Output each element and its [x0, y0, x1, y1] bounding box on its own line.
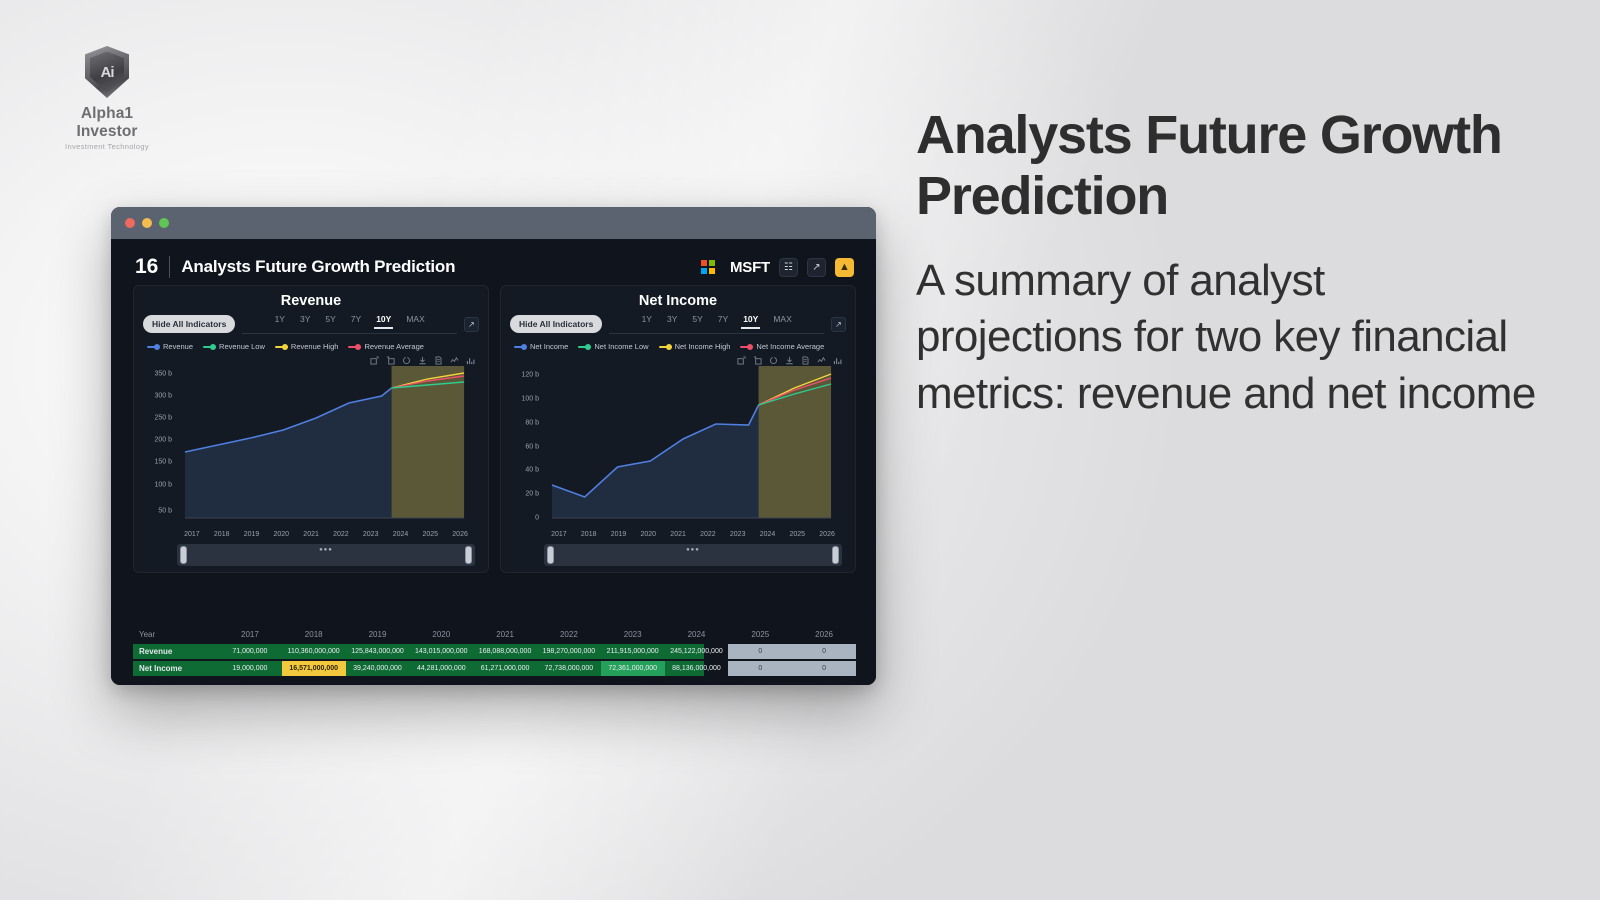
x-tick: 2024	[753, 531, 783, 538]
range-1y[interactable]: 1Y	[273, 314, 287, 329]
warning-icon[interactable]: ▲	[835, 258, 854, 277]
table-cell: 19,000,000	[218, 661, 282, 676]
x-tick: 2025	[415, 531, 445, 538]
panel-net-income: Net Income Hide All Indicators 1Y 3Y 5Y …	[500, 285, 856, 573]
table-cell: 0	[792, 644, 856, 659]
legend-label: Revenue High	[291, 342, 339, 351]
table-column-header: 2021	[473, 627, 537, 642]
copy-heading: Analysts Future Growth Prediction	[916, 105, 1536, 227]
x-tick: 2019	[237, 531, 267, 538]
zoom-in-icon[interactable]	[737, 356, 746, 365]
zoom-out-icon[interactable]	[386, 356, 395, 365]
range-7y[interactable]: 7Y	[349, 314, 363, 329]
x-axis-revenue: 2017 2018 2019 2020 2021 2022 2023 2024 …	[177, 531, 475, 538]
range-10y[interactable]: 10Y	[741, 314, 760, 329]
range-selector-revenue: 1Y 3Y 5Y 7Y 10Y MAX	[242, 314, 457, 334]
table-cell: 39,240,000,000	[346, 661, 410, 676]
table-cell: 245,122,000,000	[665, 644, 729, 659]
y-tick: 200 b	[154, 437, 177, 444]
table-cell: 16,571,000,000	[282, 661, 346, 676]
x-tick: 2017	[544, 531, 574, 538]
legend-item-net-income-high[interactable]: Net Income High	[659, 342, 731, 351]
y-axis-revenue: 350 b 300 b 250 b 200 b 150 b 100 b 50 b	[177, 366, 475, 524]
download-icon[interactable]	[785, 356, 794, 365]
app-header: 16 Analysts Future Growth Prediction MSF…	[111, 239, 876, 279]
y-tick: 80 b	[525, 419, 544, 426]
legend-item-revenue-high[interactable]: Revenue High	[275, 342, 339, 351]
app-body: 16 Analysts Future Growth Prediction MSF…	[111, 239, 876, 685]
table-row: Net Income 19,000,000 16,571,000,000 39,…	[133, 661, 856, 676]
table-row-label: Revenue	[133, 644, 218, 659]
table-cell: 211,915,000,000	[601, 644, 665, 659]
legend-item-revenue[interactable]: Revenue	[147, 342, 193, 351]
table-cell: 143,015,000,000	[409, 644, 473, 659]
range-max[interactable]: MAX	[404, 314, 426, 329]
zoom-in-icon[interactable]	[370, 356, 379, 365]
slide-number: 16	[135, 255, 158, 279]
legend-label: Revenue Average	[364, 342, 424, 351]
range-slider-revenue[interactable]: ●●●	[177, 544, 475, 566]
x-tick: 2025	[782, 531, 812, 538]
close-icon[interactable]	[125, 218, 135, 228]
table-column-header: 2022	[537, 627, 601, 642]
bar-chart-icon[interactable]	[833, 356, 842, 365]
brand-name: Alpha1 Investor	[52, 105, 162, 141]
line-chart-icon[interactable]	[817, 356, 826, 365]
table-cell: 72,361,000,000	[601, 661, 665, 676]
revenue-plot-svg	[177, 366, 475, 524]
download-icon[interactable]	[418, 356, 427, 365]
financials-table: Year 2017 2018 2019 2020 2021 2022 2023 …	[133, 627, 856, 678]
brand-tagline: Investment Technology	[52, 142, 162, 151]
zoom-icon[interactable]	[159, 218, 169, 228]
range-3y[interactable]: 3Y	[665, 314, 679, 329]
legend-net-income: Net Income Net Income Low Net Income Hig…	[510, 342, 846, 351]
slider-handle-right[interactable]	[832, 546, 839, 564]
ticker-symbol: MSFT	[730, 259, 770, 276]
table-cell: 0	[792, 661, 856, 676]
table-column-header: 2019	[346, 627, 410, 642]
chart-net-income[interactable]: 120 b 100 b 80 b 60 b 40 b 20 b 0	[510, 366, 846, 538]
range-1y[interactable]: 1Y	[640, 314, 654, 329]
external-link-icon[interactable]: ↗	[807, 258, 826, 277]
table-column-header: 2018	[282, 627, 346, 642]
legend-revenue: Revenue Revenue Low Revenue High Revenue…	[143, 342, 479, 351]
copy-body: A summary of analyst projections for two…	[916, 253, 1536, 422]
panel-title-revenue: Revenue	[143, 293, 479, 309]
legend-item-net-income-average[interactable]: Net Income Average	[740, 342, 824, 351]
range-3y[interactable]: 3Y	[298, 314, 312, 329]
x-tick: 2026	[812, 531, 842, 538]
legend-label: Net Income	[530, 342, 568, 351]
y-tick: 100 b	[521, 396, 544, 403]
legend-label: Net Income Average	[756, 342, 824, 351]
range-slider-net-income[interactable]: ●●●	[544, 544, 842, 566]
y-tick: 40 b	[525, 467, 544, 474]
legend-item-net-income-low[interactable]: Net Income Low	[578, 342, 648, 351]
table-cell: 88,136,000,000	[665, 661, 729, 676]
table-header-row: Year 2017 2018 2019 2020 2021 2022 2023 …	[133, 627, 856, 642]
bar-chart-icon[interactable]	[466, 356, 475, 365]
chart-revenue[interactable]: 350 b 300 b 250 b 200 b 150 b 100 b 50 b	[143, 366, 479, 538]
legend-label: Net Income Low	[594, 342, 648, 351]
chart-panels: Revenue Hide All Indicators 1Y 3Y 5Y 7Y …	[111, 279, 876, 573]
table-row-header: Year	[133, 627, 218, 642]
app-window: 16 Analysts Future Growth Prediction MSF…	[111, 207, 876, 685]
table-column-header: 2025	[728, 627, 792, 642]
table-column-header: 2024	[665, 627, 729, 642]
range-7y[interactable]: 7Y	[716, 314, 730, 329]
table-cell: 0	[728, 644, 792, 659]
y-tick: 100 b	[154, 481, 177, 488]
table-row: Revenue 71,000,000 110,360,000,000 125,8…	[133, 644, 856, 659]
table-cell: 71,000,000	[218, 644, 282, 659]
y-tick: 0	[535, 514, 544, 521]
table-row-label: Net Income	[133, 661, 218, 676]
legend-item-net-income[interactable]: Net Income	[514, 342, 568, 351]
x-tick: 2017	[177, 531, 207, 538]
chart-toolbar-revenue	[143, 353, 479, 366]
expand-icon-net-income[interactable]: ↗	[831, 317, 846, 332]
hide-all-indicators-button-net-income[interactable]: Hide All Indicators	[510, 315, 602, 333]
y-tick: 120 b	[521, 372, 544, 379]
x-tick: 2018	[574, 531, 604, 538]
copy-block: Analysts Future Growth Prediction A summ…	[916, 105, 1536, 422]
window-titlebar	[111, 207, 876, 239]
microsoft-logo-icon	[701, 260, 715, 274]
x-tick: 2026	[445, 531, 475, 538]
range-5y[interactable]: 5Y	[690, 314, 704, 329]
table-cell: 0	[728, 661, 792, 676]
brand-monogram: Ai	[101, 65, 114, 80]
legend-item-revenue-average[interactable]: Revenue Average	[348, 342, 424, 351]
legend-label: Net Income High	[675, 342, 731, 351]
expand-icon-revenue[interactable]: ↗	[464, 317, 479, 332]
reset-icon[interactable]	[769, 356, 778, 365]
x-tick: 2018	[207, 531, 237, 538]
chart-toolbar-net-income	[510, 353, 846, 366]
x-tick: 2020	[266, 531, 296, 538]
y-tick: 350 b	[154, 370, 177, 377]
hide-all-indicators-button-revenue[interactable]: Hide All Indicators	[143, 315, 235, 333]
x-tick: 2023	[723, 531, 753, 538]
x-tick: 2023	[356, 531, 386, 538]
panel-revenue: Revenue Hide All Indicators 1Y 3Y 5Y 7Y …	[133, 285, 489, 573]
x-tick: 2021	[663, 531, 693, 538]
y-tick: 20 b	[525, 490, 544, 497]
legend-label: Revenue	[163, 342, 193, 351]
range-max[interactable]: MAX	[771, 314, 793, 329]
document-icon[interactable]	[801, 356, 810, 365]
range-selector-net-income: 1Y 3Y 5Y 7Y 10Y MAX	[609, 314, 824, 334]
shield-icon: Ai	[85, 46, 129, 98]
slider-grip[interactable]: ●●●	[686, 547, 700, 553]
range-5y[interactable]: 5Y	[323, 314, 337, 329]
table-cell: 61,271,000,000	[473, 661, 537, 676]
table-cell: 72,738,000,000	[537, 661, 601, 676]
minimize-icon[interactable]	[142, 218, 152, 228]
y-tick: 50 b	[158, 508, 177, 515]
table-column-header: 2017	[218, 627, 282, 642]
x-tick: 2019	[604, 531, 634, 538]
document-icon[interactable]	[434, 356, 443, 365]
table-cell: 44,281,000,000	[409, 661, 473, 676]
y-tick: 60 b	[525, 443, 544, 450]
y-tick: 250 b	[154, 415, 177, 422]
x-axis-net-income: 2017 2018 2019 2020 2021 2022 2023 2024 …	[544, 531, 842, 538]
range-10y[interactable]: 10Y	[374, 314, 393, 329]
book-icon[interactable]: ☷	[779, 258, 798, 277]
table-column-header: 2026	[792, 627, 856, 642]
x-tick: 2020	[633, 531, 663, 538]
legend-item-revenue-low[interactable]: Revenue Low	[203, 342, 265, 351]
x-tick: 2021	[296, 531, 326, 538]
table-column-header: 2023	[601, 627, 665, 642]
table-cell: 198,270,000,000	[537, 644, 601, 659]
line-chart-icon[interactable]	[450, 356, 459, 365]
legend-label: Revenue Low	[219, 342, 265, 351]
table-column-header: 2020	[409, 627, 473, 642]
slider-handle-right[interactable]	[465, 546, 472, 564]
brand-logo: Ai Alpha1 Investor Investment Technology	[52, 46, 162, 151]
y-axis-net-income: 120 b 100 b 80 b 60 b 40 b 20 b 0	[544, 366, 842, 524]
divider	[169, 256, 170, 278]
y-tick: 150 b	[154, 459, 177, 466]
table-cell: 110,360,000,000	[282, 644, 346, 659]
reset-icon[interactable]	[402, 356, 411, 365]
page-title: Analysts Future Growth Prediction	[181, 257, 455, 277]
x-tick: 2024	[386, 531, 416, 538]
slider-grip[interactable]: ●●●	[319, 547, 333, 553]
panel-title-net-income: Net Income	[510, 293, 846, 309]
table-cell: 125,843,000,000	[346, 644, 410, 659]
x-tick: 2022	[693, 531, 723, 538]
zoom-out-icon[interactable]	[753, 356, 762, 365]
y-tick: 300 b	[154, 393, 177, 400]
slider-handle-left[interactable]	[547, 546, 554, 564]
x-tick: 2022	[326, 531, 356, 538]
net-income-plot-svg	[544, 366, 842, 524]
table-cell: 168,088,000,000	[473, 644, 537, 659]
slider-handle-left[interactable]	[180, 546, 187, 564]
